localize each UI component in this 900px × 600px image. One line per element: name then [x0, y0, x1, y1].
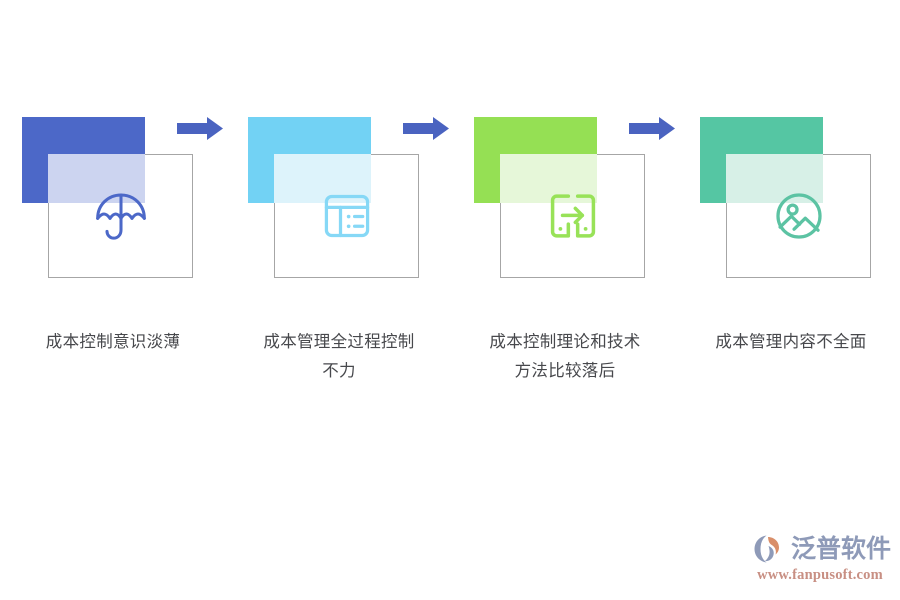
flow-arrow: [177, 117, 223, 140]
process-step-2[interactable]: 成本管理全过程控制 不力: [226, 0, 452, 600]
watermark-url-text: www.fanpusoft.com: [754, 566, 886, 584]
step-tint-overlay: [48, 154, 145, 203]
watermark-brand-row: 泛普软件: [754, 532, 886, 566]
watermark-brand-text: 泛普软件: [791, 534, 891, 564]
step-tint-overlay: [500, 154, 597, 203]
step-tint-overlay: [726, 154, 823, 203]
step-tint-overlay: [274, 154, 371, 203]
flow-arrow: [629, 117, 675, 140]
caption-line: 成本管理全过程控制: [226, 327, 452, 356]
caption-line: 成本控制意识淡薄: [0, 327, 226, 356]
caption-line: 成本控制理论和技术: [452, 327, 678, 356]
step-caption: 成本管理内容不全面: [678, 327, 900, 356]
watermark-logo: 泛普软件 www.fanpusoft.com: [754, 532, 886, 588]
caption-line: 成本管理内容不全面: [678, 327, 900, 356]
step-caption: 成本控制理论和技术 方法比较落后: [452, 327, 678, 385]
process-step-4[interactable]: 成本管理内容不全面: [678, 0, 900, 600]
diagram-canvas: 成本控制意识淡薄 成本管理全过程控制 不力: [0, 0, 900, 600]
fanpu-logo-icon: [754, 534, 788, 564]
process-step-1[interactable]: 成本控制意识淡薄: [0, 0, 226, 600]
flow-arrow: [403, 117, 449, 140]
step-caption: 成本管理全过程控制 不力: [226, 327, 452, 385]
step-caption: 成本控制意识淡薄: [0, 327, 226, 356]
caption-line: 方法比较落后: [452, 356, 678, 385]
caption-line: 不力: [226, 356, 452, 385]
process-step-3[interactable]: 成本控制理论和技术 方法比较落后: [452, 0, 678, 600]
